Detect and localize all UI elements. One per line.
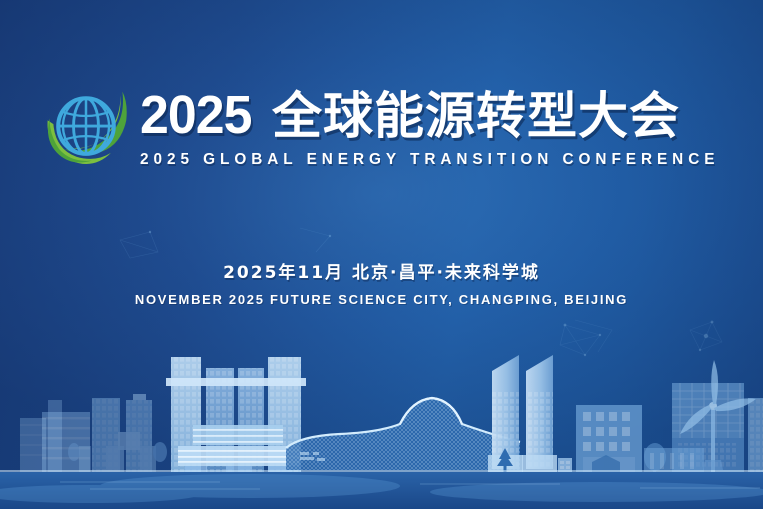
conference-poster: 2025 全球能源转型大会 2025 GLOBAL ENERGY TRANSIT… xyxy=(0,0,763,509)
subtitle-chinese: 2025年11月 北京·昌平·未来科学城 xyxy=(0,258,763,283)
subtitle-english: NOVEMBER 2025 FUTURE SCIENCE CITY, CHANG… xyxy=(0,292,763,307)
title-chinese: 全球能源转型大会 xyxy=(272,91,680,141)
title-main-row: 2025 全球能源转型大会 xyxy=(140,88,725,142)
title-block: 2025 全球能源转型大会 2025 GLOBAL ENERGY TRANSIT… xyxy=(140,88,725,169)
city-skyline xyxy=(0,0,763,509)
subtitle-block: 2025年11月 北京·昌平·未来科学城 NOVEMBER 2025 FUTUR… xyxy=(0,258,763,307)
title-year: 2025 xyxy=(140,88,251,142)
title-english: 2025 GLOBAL ENERGY TRANSITION CONFERENCE xyxy=(140,151,719,169)
poster-header: 2025 全球能源转型大会 2025 GLOBAL ENERGY TRANSIT… xyxy=(0,82,763,174)
globe-leaf-logo-icon xyxy=(38,82,134,174)
